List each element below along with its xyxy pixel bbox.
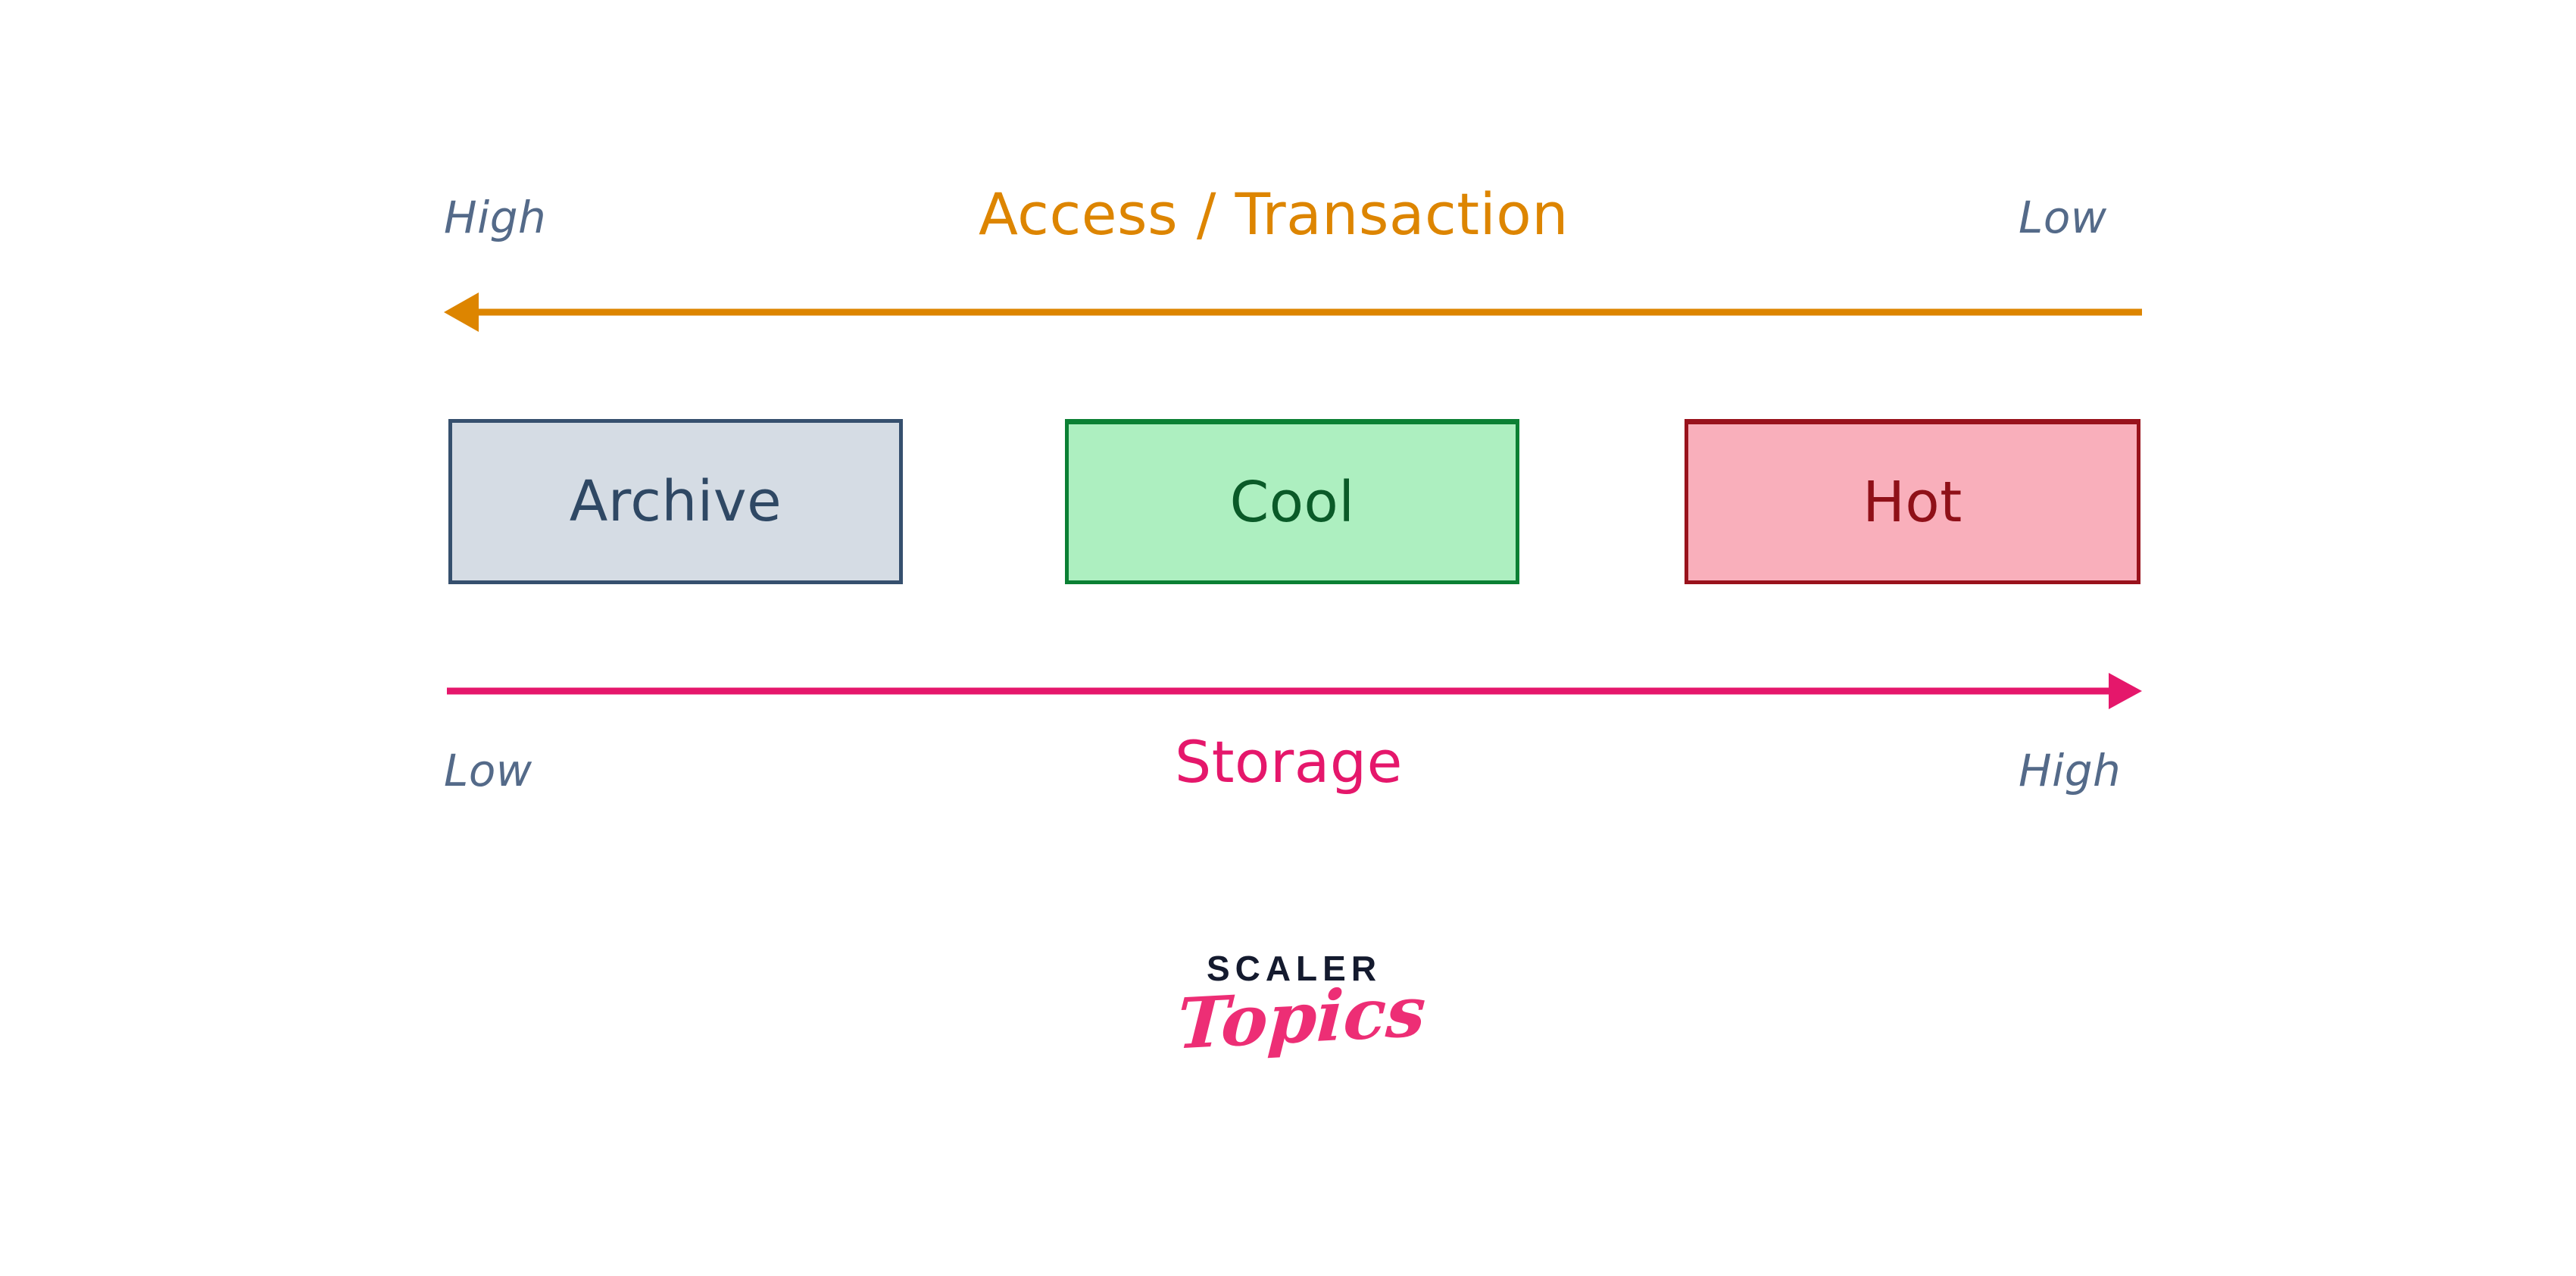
tier-box-hot[interactable]: Hot (1685, 419, 2140, 584)
storage-axis-title: Storage (1175, 733, 1403, 791)
scaler-topics-logo: SCALER Topics (1178, 951, 1405, 1140)
storage-axis-arrow-icon (447, 673, 2142, 709)
access-axis-left-label: High (444, 195, 546, 239)
access-axis-right-label: Low (2019, 195, 2107, 239)
access-axis-arrow-icon (444, 292, 2142, 332)
storage-axis-right-label: High (2019, 749, 2121, 793)
tier-box-archive[interactable]: Archive (448, 419, 903, 584)
access-axis-title: Access / Transaction (979, 186, 1569, 243)
logo-script-text: Topics (1176, 977, 1428, 1059)
logo-script-wrap: Topics (1178, 983, 1405, 1052)
tier-label-archive: Archive (570, 474, 782, 530)
storage-axis-left-label: Low (444, 749, 532, 793)
tier-label-cool: Cool (1230, 474, 1355, 530)
diagram-canvas: High Access / Transaction Low Archive Co… (0, 0, 2576, 1276)
tier-box-cool[interactable]: Cool (1065, 419, 1519, 584)
tier-label-hot: Hot (1863, 474, 1962, 530)
